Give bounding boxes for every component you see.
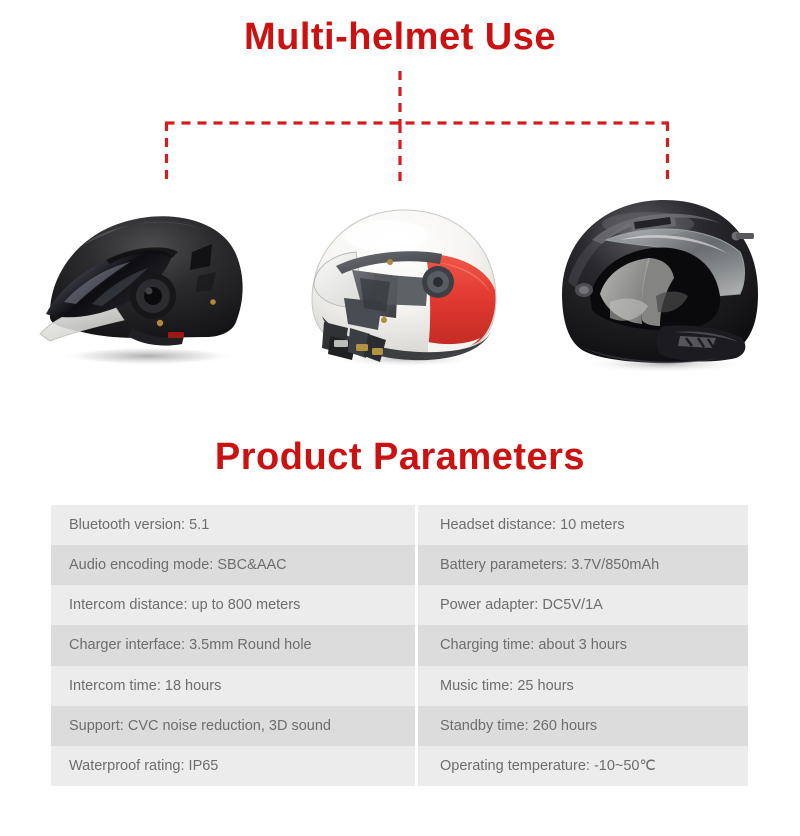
- param-cell-right: Music time: 25 hours: [415, 666, 748, 706]
- param-cell-right: Battery parameters: 3.7V/850mAh: [415, 545, 748, 585]
- page-title-multi-helmet-use: Multi-helmet Use: [0, 14, 800, 60]
- page-title-product-parameters: Product Parameters: [0, 434, 800, 480]
- helmet-image-row: [0, 178, 800, 378]
- black-open-face-helmet: [20, 178, 270, 378]
- param-cell-right: Charging time: about 3 hours: [415, 625, 748, 665]
- table-row: Charger interface: 3.5mm Round holeCharg…: [51, 625, 748, 665]
- column-divider: [415, 706, 418, 746]
- param-cell-left: Waterproof rating: IP65: [51, 746, 415, 786]
- table-row: Audio encoding mode: SBC&AACBattery para…: [51, 545, 748, 585]
- product-parameters-table: Bluetooth version: 5.1Headset distance: …: [51, 505, 748, 786]
- param-cell-left: Intercom time: 18 hours: [51, 666, 415, 706]
- param-cell-left: Audio encoding mode: SBC&AAC: [51, 545, 415, 585]
- black-full-face-helmet: [540, 178, 790, 378]
- param-cell-right: Headset distance: 10 meters: [415, 505, 748, 545]
- column-divider: [415, 625, 418, 665]
- param-cell-left: Charger interface: 3.5mm Round hole: [51, 625, 415, 665]
- table-row: Bluetooth version: 5.1Headset distance: …: [51, 505, 748, 545]
- table-row: Waterproof rating: IP65Operating tempera…: [51, 746, 748, 786]
- table-row: Intercom distance: up to 800 metersPower…: [51, 585, 748, 625]
- white-red-open-face-helmet: [278, 178, 528, 378]
- column-divider: [415, 746, 418, 786]
- param-cell-left: Bluetooth version: 5.1: [51, 505, 415, 545]
- param-cell-right: Operating temperature: -10~50℃: [415, 746, 748, 786]
- table-row: Support: CVC noise reduction, 3D soundSt…: [51, 706, 748, 746]
- column-divider: [415, 666, 418, 706]
- column-divider: [415, 505, 418, 545]
- column-divider: [415, 545, 418, 585]
- param-cell-right: Power adapter: DC5V/1A: [415, 585, 748, 625]
- column-divider: [415, 585, 418, 625]
- param-cell-right: Standby time: 260 hours: [415, 706, 748, 746]
- param-cell-left: Support: CVC noise reduction, 3D sound: [51, 706, 415, 746]
- table-row: Intercom time: 18 hoursMusic time: 25 ho…: [51, 666, 748, 706]
- param-cell-left: Intercom distance: up to 800 meters: [51, 585, 415, 625]
